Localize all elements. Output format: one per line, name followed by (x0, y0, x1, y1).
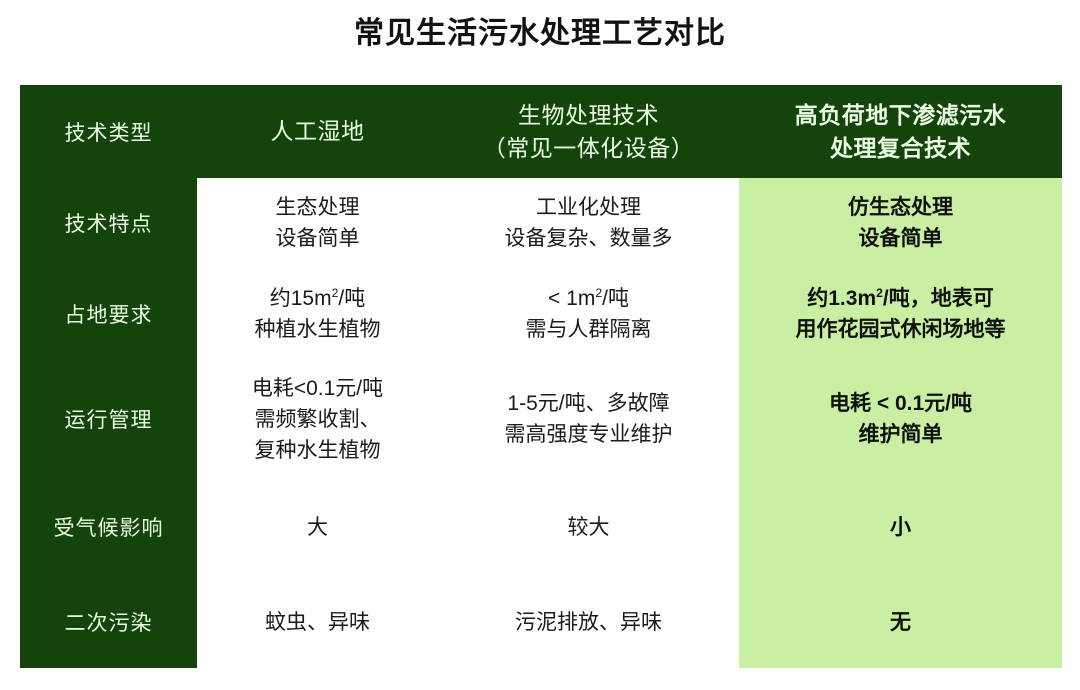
cell-operation-biological: 1-5元/吨、多故障 需高强度专业维护 (438, 360, 739, 478)
cell-features-infiltration: 仿生态处理 设备简单 (739, 178, 1062, 268)
cell-operation-wetland: 电耗<0.1元/吨 需频繁收割、 复种水生植物 (197, 360, 438, 478)
header-cell-constructed-wetland: 人工湿地 (197, 85, 438, 178)
table-row: 技术特点 生态处理 设备简单 工业化处理 设备复杂、数量多 仿 (20, 178, 1062, 268)
land-bio-line2: 需与人群隔离 (448, 314, 729, 345)
cell-climate-biological: 较大 (438, 478, 739, 576)
header-cell-technology-type: 技术类型 (20, 85, 197, 178)
table-row: 受气候影响 大 较大 小 (20, 478, 1062, 576)
page-title: 常见生活污水处理工艺对比 (0, 14, 1080, 54)
header-label-text: 技术类型 (20, 111, 197, 153)
row-label-climate-impact: 受气候影响 (20, 478, 197, 576)
cell-features-wetland: 生态处理 设备简单 (197, 178, 438, 268)
process-comparison-table: 技术类型 人工湿地 生物处理技术 （常见一体化设备） 高负荷地下渗滤污水 (20, 85, 1062, 668)
land-bio-line1: < 1m2/吨 (448, 283, 729, 314)
cell-land-wetland: 约15m2/吨 种植水生植物 (197, 268, 438, 360)
row-label-features: 技术特点 (20, 178, 197, 268)
table-header-row: 技术类型 人工湿地 生物处理技术 （常见一体化设备） 高负荷地下渗滤污水 (20, 85, 1062, 178)
row-label-land-requirement: 占地要求 (20, 268, 197, 360)
cell-pollution-wetland: 蚊虫、异味 (197, 576, 438, 668)
header-col-a-text: 人工湿地 (207, 115, 428, 148)
cell-operation-infiltration: 电耗 < 0.1元/吨 维护简单 (739, 360, 1062, 478)
cell-climate-wetland: 大 (197, 478, 438, 576)
header-col-b-line1: 生物处理技术 (448, 99, 729, 132)
header-col-hl-line2: 处理复合技术 (749, 132, 1052, 165)
table-row: 二次污染 蚊虫、异味 污泥排放、异味 无 (20, 576, 1062, 668)
header-col-hl-line1: 高负荷地下渗滤污水 (749, 99, 1052, 132)
land-wetland-line2: 种植水生植物 (207, 314, 428, 345)
cell-pollution-infiltration: 无 (739, 576, 1062, 668)
land-hl-line2: 用作花园式休闲场地等 (749, 314, 1052, 345)
cell-land-biological: < 1m2/吨 需与人群隔离 (438, 268, 739, 360)
cell-pollution-biological: 污泥排放、异味 (438, 576, 739, 668)
header-cell-subsurface-infiltration: 高负荷地下渗滤污水 处理复合技术 (739, 85, 1062, 178)
table-row: 占地要求 约15m2/吨 种植水生植物 < 1m2/吨 需与人群隔离 (20, 268, 1062, 360)
header-cell-biological-treatment: 生物处理技术 （常见一体化设备） (438, 85, 739, 178)
land-hl-line1: 约1.3m2/吨，地表可 (749, 283, 1052, 314)
table-row: 运行管理 电耗<0.1元/吨 需频繁收割、 复种水生植物 1-5元/吨、多故障 … (20, 360, 1062, 478)
header-col-b-line2: （常见一体化设备） (448, 132, 729, 165)
cell-features-biological: 工业化处理 设备复杂、数量多 (438, 178, 739, 268)
comparison-table-page: 常见生活污水处理工艺对比 技术类型 人工湿地 生物处 (0, 0, 1080, 690)
cell-climate-infiltration: 小 (739, 478, 1062, 576)
cell-land-infiltration: 约1.3m2/吨，地表可 用作花园式休闲场地等 (739, 268, 1062, 360)
row-label-secondary-pollution: 二次污染 (20, 576, 197, 668)
land-wetland-line1: 约15m2/吨 (207, 283, 428, 314)
row-label-operation-management: 运行管理 (20, 360, 197, 478)
